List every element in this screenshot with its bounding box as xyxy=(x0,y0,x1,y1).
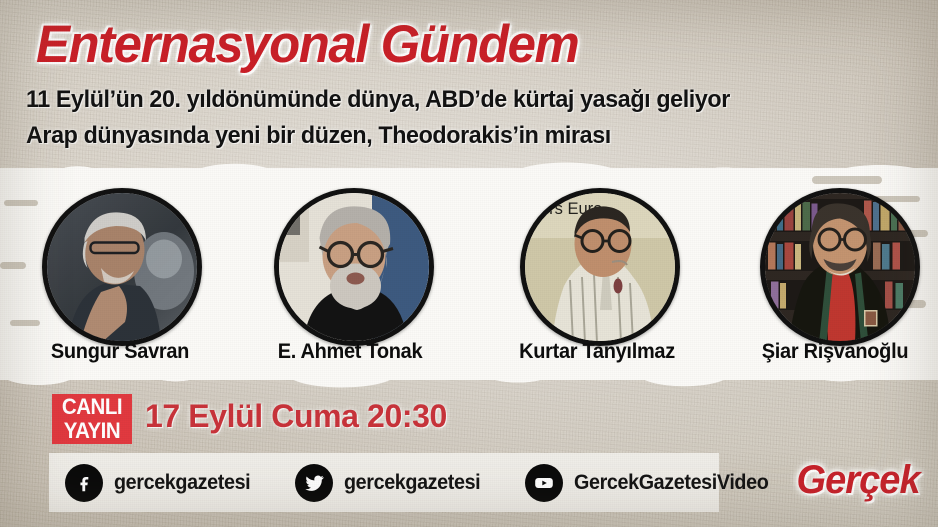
portrait-image-sungur-savran xyxy=(47,193,197,343)
social-link-facebook[interactable]: gercekgazetesi xyxy=(65,464,259,502)
social-link-twitter[interactable]: gercekgazetesi xyxy=(295,464,489,502)
portrait-image-kurtar-tanyilmaz: ers Euro- xyxy=(525,193,675,343)
band-speck xyxy=(0,262,26,269)
band-speck xyxy=(4,200,38,206)
page-title: Enternasyonal Gündem xyxy=(36,18,578,71)
portrait-image-e-ahmet-tonak xyxy=(279,193,429,343)
twitter-handle: gercekgazetesi xyxy=(344,471,480,495)
brand-logo: Gerçek xyxy=(797,458,920,503)
speaker-name-2: Kurtar Tanyılmaz xyxy=(492,340,703,364)
speaker-photo-3 xyxy=(760,188,920,346)
subtitle-line-1: 11 Eylül’ün 20. yıldönümünde dünya, ABD’… xyxy=(26,86,730,114)
live-broadcast-badge: CANLI YAYIN xyxy=(52,394,132,444)
subtitle-line-2: Arap dünyasında yeni bir düzen, Theodora… xyxy=(26,122,611,150)
speaker-name-0: Sungur Savran xyxy=(16,340,225,364)
twitter-icon xyxy=(295,464,333,502)
youtube-icon xyxy=(525,464,563,502)
youtube-handle: GercekGazetesiVideo xyxy=(574,471,768,495)
speaker-photo-2: ers Euro- xyxy=(520,188,680,346)
promo-poster: Enternasyonal Gündem 11 Eylül’ün 20. yıl… xyxy=(0,0,938,527)
speaker-name-1: E. Ahmet Tonak xyxy=(246,340,455,364)
live-badge-line-1: CANLI xyxy=(62,395,122,419)
portrait-image-siar-risvanoglu xyxy=(765,193,915,343)
speaker-photo-1 xyxy=(274,188,434,346)
facebook-icon xyxy=(65,464,103,502)
social-link-youtube[interactable]: GercekGazetesiVideo xyxy=(525,464,781,502)
speaker-name-3: Şiar Rişvanoğlu xyxy=(728,340,938,364)
band-speck xyxy=(812,176,882,184)
broadcast-datetime: 17 Eylül Cuma 20:30 xyxy=(145,398,447,435)
facebook-handle: gercekgazetesi xyxy=(114,471,250,495)
social-links-bar: gercekgazetesi gercekgazetesi GercekGaze… xyxy=(49,453,719,512)
speaker-photo-0 xyxy=(42,188,202,346)
band-speck xyxy=(10,320,40,326)
live-badge-line-2: YAYIN xyxy=(64,419,120,443)
